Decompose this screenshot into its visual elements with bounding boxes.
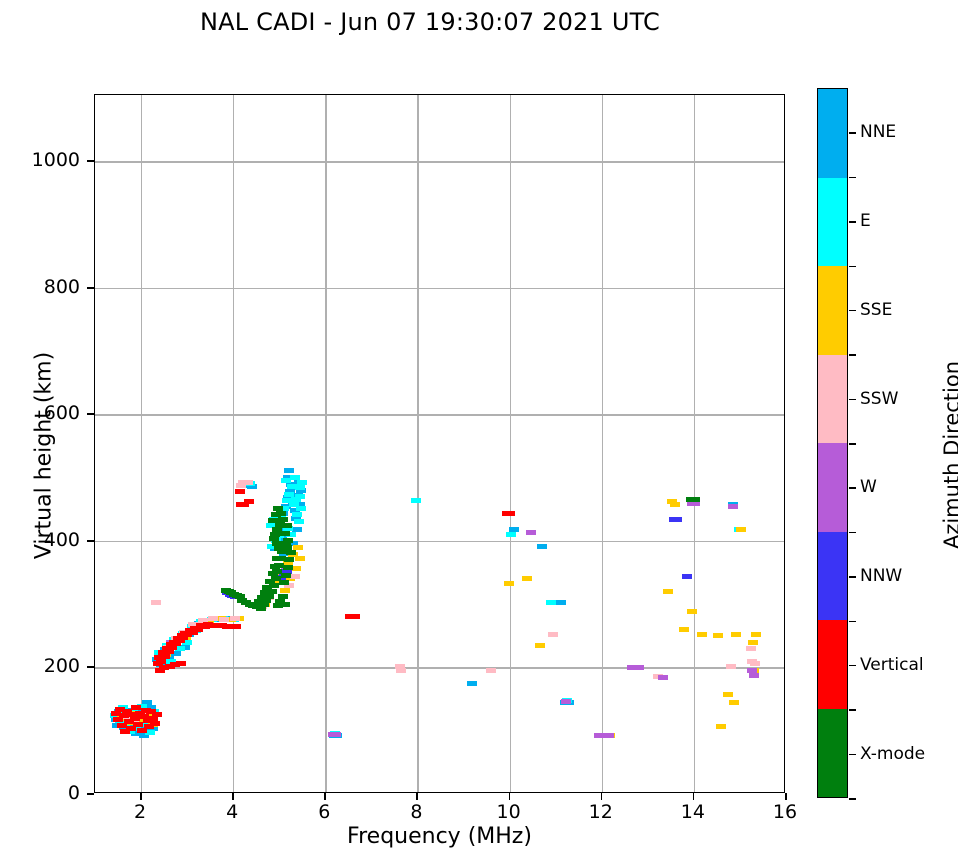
data-point [286, 550, 296, 555]
data-point [682, 574, 692, 579]
data-point [219, 617, 229, 622]
data-point [604, 733, 614, 738]
data-point [396, 668, 406, 673]
y-tick-label-wrap: 1000 [0, 160, 80, 182]
data-point [295, 556, 305, 561]
y-axis-title: Virtual height (km) [32, 316, 57, 596]
data-point [331, 732, 341, 737]
y-tick-mark [87, 540, 94, 542]
data-point [236, 483, 246, 488]
data-point [284, 468, 294, 473]
colorbar-boundary-tick [849, 177, 856, 179]
colorbar-band-nne [818, 89, 847, 178]
data-point [486, 668, 496, 673]
data-point [272, 556, 282, 561]
colorbar-band-w [818, 443, 847, 532]
y-tick-mark [87, 160, 94, 162]
data-point [208, 616, 218, 621]
colorbar-label-w: W [860, 477, 877, 497]
data-point [731, 632, 741, 637]
colorbar-label-sse: SSE [860, 300, 892, 320]
y-tick-label-wrap: 200 [0, 666, 80, 688]
data-point [690, 497, 700, 502]
colorbar-tick-mark [849, 576, 856, 578]
y-tick-label: 0 [0, 782, 80, 804]
y-tick-label: 800 [0, 276, 80, 298]
x-tick-label: 2 [134, 801, 146, 823]
data-point [297, 480, 307, 485]
data-point [291, 497, 301, 502]
data-point [292, 512, 302, 517]
data-point [284, 557, 294, 562]
page-title: NAL CADI - Jun 07 19:30:07 2021 UTC [0, 8, 860, 36]
data-point [271, 512, 281, 517]
colorbar-boundary-tick [849, 798, 856, 800]
y-tick-mark [87, 793, 94, 795]
data-point [716, 724, 726, 729]
data-point [697, 632, 707, 637]
data-point [279, 580, 289, 585]
data-point [746, 646, 756, 651]
colorbar-band-nnw [818, 532, 847, 621]
data-point [280, 588, 290, 593]
colorbar-band-sse [818, 266, 847, 355]
colorbar-label-ssw: SSW [860, 389, 898, 409]
x-axis-title: Frequency (MHz) [94, 824, 785, 849]
data-point [751, 632, 761, 637]
data-point [278, 517, 288, 522]
data-point [594, 733, 604, 738]
y-tick-mark [87, 666, 94, 668]
data-point [281, 573, 291, 578]
data-point [280, 531, 290, 536]
data-point [268, 518, 278, 523]
colorbar-boundary-tick [849, 443, 856, 445]
data-point [280, 602, 290, 607]
y-tick-mark [87, 287, 94, 289]
data-point [160, 654, 170, 659]
data-point [526, 530, 536, 535]
x-tick-mark [140, 793, 142, 800]
y-tick-label: 200 [0, 655, 80, 677]
data-point [268, 571, 278, 576]
data-point [230, 616, 240, 621]
data-point [282, 523, 292, 528]
data-point [269, 536, 279, 541]
data-point [634, 665, 644, 670]
colorbar-label-x-mode: X-mode [860, 744, 925, 764]
data-point [749, 673, 759, 678]
colorbar-label-vertical: Vertical [860, 655, 924, 675]
colorbar-band-ssw [818, 355, 847, 444]
colorbar-label-nnw: NNW [860, 566, 902, 586]
y-tick-mark [87, 413, 94, 415]
data-point [505, 511, 515, 516]
data-point [713, 633, 723, 638]
x-tick-label: 8 [410, 801, 422, 823]
data-point [506, 532, 516, 537]
x-tick-mark [601, 793, 603, 800]
x-tick-mark [509, 793, 511, 800]
colorbar-tick-mark [849, 487, 856, 489]
x-tick-mark [416, 793, 418, 800]
data-point [273, 506, 283, 511]
data-point [504, 581, 514, 586]
data-point [723, 692, 733, 697]
data-point [265, 579, 275, 584]
colorbar-label-nne: NNE [860, 122, 896, 142]
data-point [295, 485, 305, 490]
colorbar-label-e: E [860, 211, 871, 231]
data-point [750, 661, 760, 666]
colorbar-boundary-tick [849, 709, 856, 711]
data-point [670, 502, 680, 507]
colorbar-boundary-tick [849, 354, 856, 356]
data-point [736, 527, 746, 532]
colorbar [817, 88, 848, 798]
y-tick-label-wrap: 0 [0, 793, 80, 815]
x-tick-mark [232, 793, 234, 800]
data-point [231, 624, 241, 629]
data-point [728, 504, 738, 509]
colorbar-boundary-tick [849, 266, 856, 268]
data-point [150, 721, 160, 726]
data-point [411, 498, 421, 503]
x-tick-label: 14 [681, 801, 705, 823]
colorbar-band-vertical [818, 620, 847, 709]
data-point [152, 712, 162, 717]
x-tick-mark [693, 793, 695, 800]
data-point [537, 544, 547, 549]
data-point [658, 675, 668, 680]
y-tick-label-wrap: 800 [0, 287, 80, 309]
colorbar-tick-mark [849, 132, 856, 134]
x-tick-label: 12 [589, 801, 613, 823]
x-tick-label: 16 [773, 801, 797, 823]
colorbar-title: Azimuth Direction [940, 315, 958, 595]
data-point [546, 600, 556, 605]
colorbar-band-x-mode [818, 709, 847, 798]
data-point [748, 640, 758, 645]
colorbar-tick-mark [849, 399, 856, 401]
ionogram-figure: NAL CADI - Jun 07 19:30:07 2021 UTC 2468… [0, 0, 958, 857]
data-point [176, 661, 186, 666]
data-point [535, 643, 545, 648]
data-point [522, 576, 532, 581]
data-point [556, 600, 566, 605]
colorbar-tick-mark [849, 665, 856, 667]
data-point [548, 632, 558, 637]
data-point [151, 600, 161, 605]
x-tick-label: 10 [497, 801, 521, 823]
x-tick-mark [785, 793, 787, 800]
data-point [467, 681, 477, 686]
data-point [254, 599, 264, 604]
data-point [350, 614, 360, 619]
colorbar-tick-mark [849, 221, 856, 223]
x-tick-mark [324, 793, 326, 800]
data-point [729, 700, 739, 705]
data-point [663, 589, 673, 594]
colorbar-boundary-tick [849, 621, 856, 623]
colorbar-band-e [818, 178, 847, 267]
data-point [679, 627, 689, 632]
data-point [272, 541, 282, 546]
colorbar-tick-mark [849, 754, 856, 756]
data-point [726, 664, 736, 669]
y-tick-label: 1000 [0, 149, 80, 171]
data-point [561, 699, 571, 704]
data-point [296, 506, 306, 511]
data-point [687, 609, 697, 614]
data-point [235, 489, 245, 494]
data-point [294, 519, 304, 524]
colorbar-boundary-tick [849, 532, 856, 534]
plot-area [94, 94, 785, 793]
data-point [283, 565, 293, 570]
x-tick-label: 4 [226, 801, 238, 823]
scatter-points [95, 95, 784, 792]
x-tick-label: 6 [318, 801, 330, 823]
data-point [244, 499, 254, 504]
data-point [290, 574, 300, 579]
data-point [672, 517, 682, 522]
colorbar-tick-mark [849, 310, 856, 312]
data-point [274, 546, 284, 551]
data-point [270, 564, 280, 569]
